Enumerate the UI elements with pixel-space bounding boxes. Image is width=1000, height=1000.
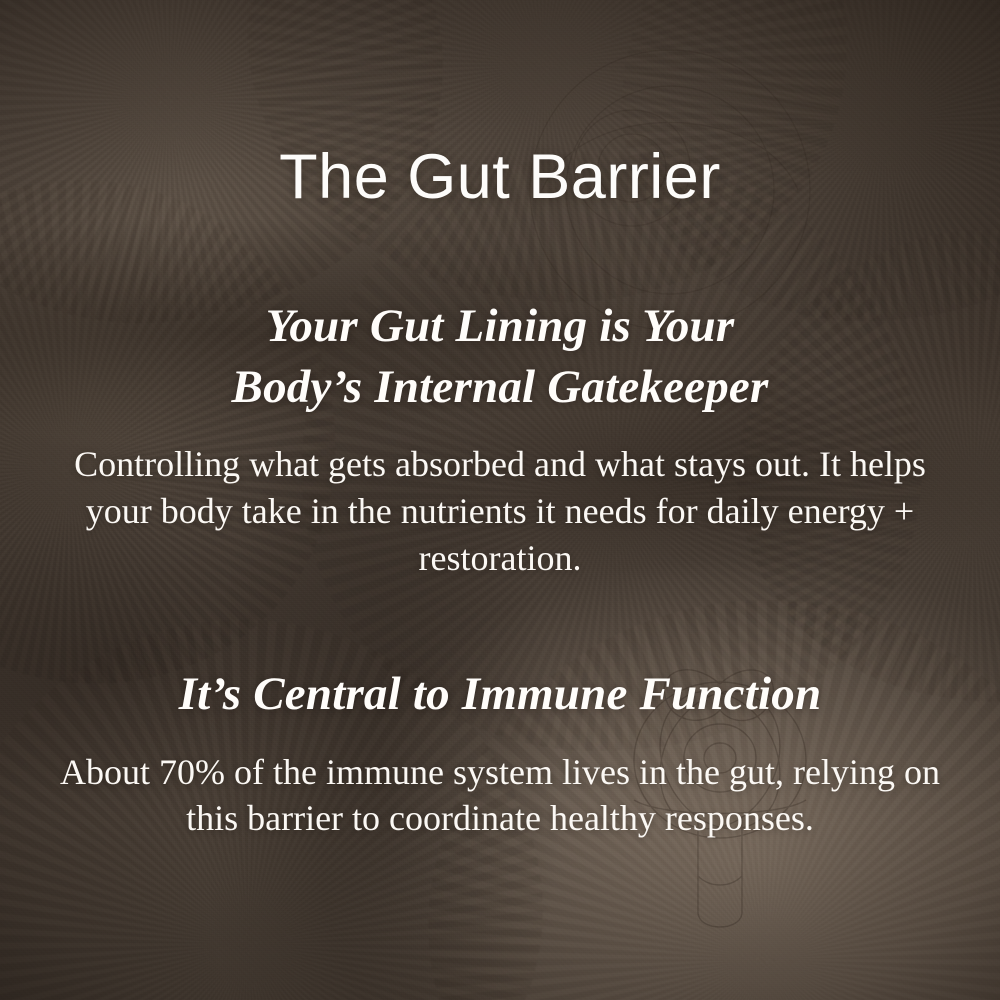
section-immune-function: It’s Central to Immune Function About 70… bbox=[0, 664, 1000, 842]
page-title: The Gut Barrier bbox=[0, 146, 1000, 209]
poster-canvas: The Gut Barrier Your Gut Lining is Your … bbox=[0, 0, 1000, 1000]
section-body-text: About 70% of the immune system lives in … bbox=[0, 749, 1000, 843]
section-body-text: Controlling what gets absorbed and what … bbox=[0, 441, 1000, 581]
section-heading: It’s Central to Immune Function bbox=[0, 664, 1000, 725]
section-gut-lining: Your Gut Lining is Your Body’s Internal … bbox=[0, 296, 1000, 582]
section-heading-line: Body’s Internal Gatekeeper bbox=[40, 357, 960, 418]
section-heading-line: Your Gut Lining is Your bbox=[40, 296, 960, 357]
poster-content: The Gut Barrier Your Gut Lining is Your … bbox=[0, 0, 1000, 1000]
section-heading: Your Gut Lining is Your Body’s Internal … bbox=[0, 296, 1000, 417]
section-heading-line: It’s Central to Immune Function bbox=[40, 664, 960, 725]
